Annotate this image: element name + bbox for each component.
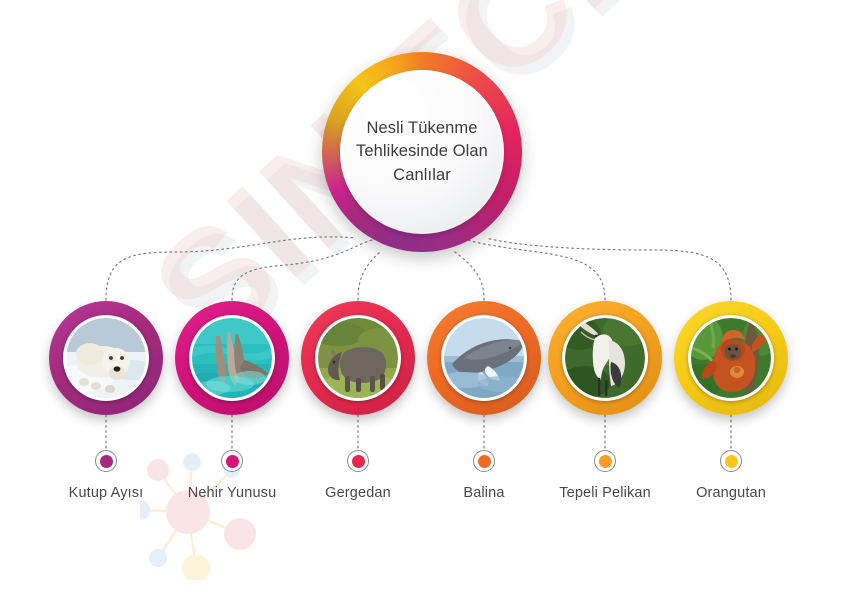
marker-dot: [599, 455, 612, 468]
marker-tepeli-pelikan[interactable]: [594, 450, 616, 472]
page-title: Nesli Tükenme Tehlikesinde Olan Canlılar: [340, 117, 504, 187]
item-node-orangutan[interactable]: [674, 301, 788, 415]
orangutan-photo: [691, 318, 771, 398]
marker-dot: [226, 455, 239, 468]
item-node-inner: [315, 315, 401, 401]
marker-balina[interactable]: [473, 450, 495, 472]
marker-dot: [725, 455, 738, 468]
marker-dot: [352, 455, 365, 468]
rhinoceros-photo: [318, 318, 398, 398]
river-dolphin-photo: [192, 318, 272, 398]
infographic-canvas: SINIFCEFEN SINIFCEFEN: [0, 0, 842, 595]
item-label-gergedan: Gergedan: [325, 485, 391, 501]
item-node-inner: [562, 315, 648, 401]
molecule-decoration: [140, 440, 290, 580]
marker-gergedan[interactable]: [347, 450, 369, 472]
item-label-kutup-ayisi: Kutup Ayısı: [69, 485, 144, 501]
marker-dot: [100, 455, 113, 468]
item-label-balina: Balina: [463, 485, 504, 501]
item-node-gergedan[interactable]: [301, 301, 415, 415]
central-node-inner: Nesli Tükenme Tehlikesinde Olan Canlılar: [340, 70, 504, 234]
item-node-inner: [441, 315, 527, 401]
item-node-tepeli-pelikan[interactable]: [548, 301, 662, 415]
marker-nehir-yunusu[interactable]: [221, 450, 243, 472]
item-node-balina[interactable]: [427, 301, 541, 415]
marker-orangutan[interactable]: [720, 450, 742, 472]
pelican-photo: [565, 318, 645, 398]
item-node-inner: [688, 315, 774, 401]
item-node-nehir-yunusu[interactable]: [175, 301, 289, 415]
marker-dot: [478, 455, 491, 468]
item-node-inner: [63, 315, 149, 401]
item-label-tepeli-pelikan: Tepeli Pelikan: [559, 485, 651, 501]
item-label-orangutan: Orangutan: [696, 485, 766, 501]
polar-bear-photo: [66, 318, 146, 398]
item-node-inner: [189, 315, 275, 401]
item-label-nehir-yunusu: Nehir Yunusu: [188, 485, 277, 501]
item-node-kutup-ayisi[interactable]: [49, 301, 163, 415]
central-node[interactable]: Nesli Tükenme Tehlikesinde Olan Canlılar: [322, 52, 522, 252]
marker-kutup-ayisi[interactable]: [95, 450, 117, 472]
whale-photo: [444, 318, 524, 398]
